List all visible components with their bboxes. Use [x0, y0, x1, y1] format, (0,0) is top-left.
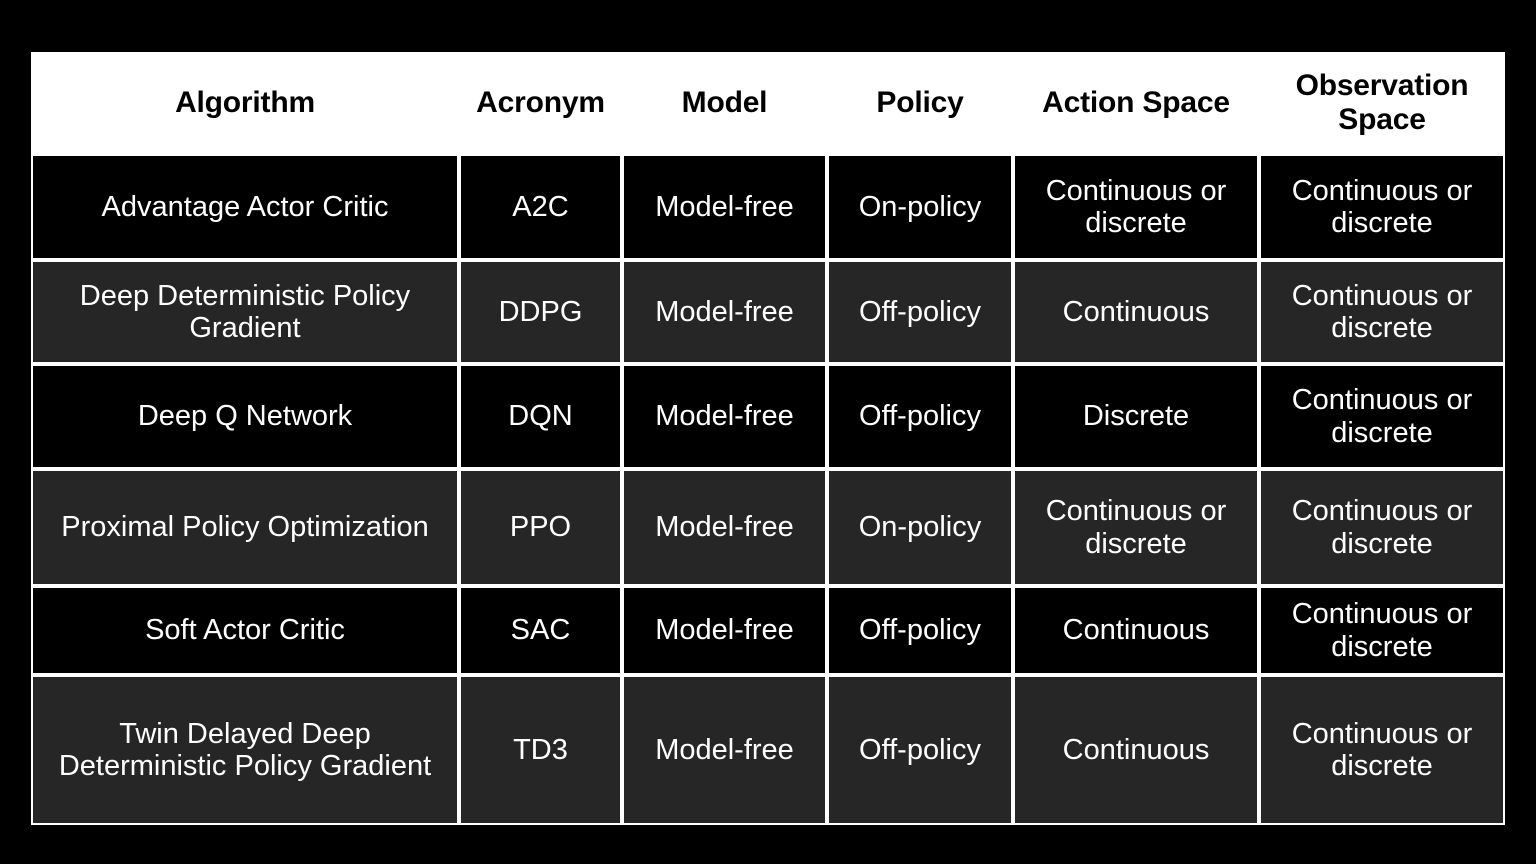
cell-algorithm: Advantage Actor Critic — [31, 154, 459, 260]
header-row: Algorithm Acronym Model Policy Action Sp… — [31, 52, 1505, 154]
column-header-algorithm: Algorithm — [31, 52, 459, 154]
cell-policy: On-policy — [827, 469, 1013, 586]
cell-policy: Off-policy — [827, 586, 1013, 675]
table-row: Deep Deterministic Policy Gradient DDPG … — [31, 260, 1505, 364]
cell-acronym: DDPG — [459, 260, 622, 364]
cell-acronym: SAC — [459, 586, 622, 675]
cell-model: Model-free — [622, 260, 827, 364]
table-row: Deep Q Network DQN Model-free Off-policy… — [31, 364, 1505, 469]
cell-algorithm: Deep Q Network — [31, 364, 459, 469]
cell-policy: On-policy — [827, 154, 1013, 260]
column-header-observation-space: Observation Space — [1259, 52, 1505, 154]
cell-policy: Off-policy — [827, 260, 1013, 364]
cell-observation-space: Continuous or discrete — [1259, 260, 1505, 364]
cell-action-space: Continuous or discrete — [1013, 154, 1259, 260]
table-row: Proximal Policy Optimization PPO Model-f… — [31, 469, 1505, 586]
table-row: Twin Delayed Deep Deterministic Policy G… — [31, 675, 1505, 825]
cell-acronym: A2C — [459, 154, 622, 260]
cell-algorithm: Deep Deterministic Policy Gradient — [31, 260, 459, 364]
rl-algorithm-comparison-table: Algorithm Acronym Model Policy Action Sp… — [31, 52, 1505, 825]
cell-observation-space: Continuous or discrete — [1259, 586, 1505, 675]
cell-acronym: DQN — [459, 364, 622, 469]
column-header-action-space: Action Space — [1013, 52, 1259, 154]
slide-canvas: Algorithm Acronym Model Policy Action Sp… — [0, 0, 1536, 864]
column-header-model: Model — [622, 52, 827, 154]
table-header: Algorithm Acronym Model Policy Action Sp… — [31, 52, 1505, 154]
cell-model: Model-free — [622, 154, 827, 260]
cell-policy: Off-policy — [827, 675, 1013, 825]
cell-action-space: Continuous or discrete — [1013, 469, 1259, 586]
cell-observation-space: Continuous or discrete — [1259, 154, 1505, 260]
cell-action-space: Continuous — [1013, 260, 1259, 364]
cell-model: Model-free — [622, 586, 827, 675]
cell-model: Model-free — [622, 675, 827, 825]
cell-observation-space: Continuous or discrete — [1259, 675, 1505, 825]
cell-acronym: PPO — [459, 469, 622, 586]
cell-algorithm: Proximal Policy Optimization — [31, 469, 459, 586]
cell-model: Model-free — [622, 469, 827, 586]
table-body: Advantage Actor Critic A2C Model-free On… — [31, 154, 1505, 825]
cell-action-space: Continuous — [1013, 586, 1259, 675]
table-row: Soft Actor Critic SAC Model-free Off-pol… — [31, 586, 1505, 675]
cell-observation-space: Continuous or discrete — [1259, 364, 1505, 469]
cell-algorithm: Soft Actor Critic — [31, 586, 459, 675]
cell-model: Model-free — [622, 364, 827, 469]
cell-action-space: Discrete — [1013, 364, 1259, 469]
cell-observation-space: Continuous or discrete — [1259, 469, 1505, 586]
column-header-acronym: Acronym — [459, 52, 622, 154]
cell-algorithm: Twin Delayed Deep Deterministic Policy G… — [31, 675, 459, 825]
column-header-policy: Policy — [827, 52, 1013, 154]
cell-acronym: TD3 — [459, 675, 622, 825]
cell-policy: Off-policy — [827, 364, 1013, 469]
cell-action-space: Continuous — [1013, 675, 1259, 825]
table-row: Advantage Actor Critic A2C Model-free On… — [31, 154, 1505, 260]
